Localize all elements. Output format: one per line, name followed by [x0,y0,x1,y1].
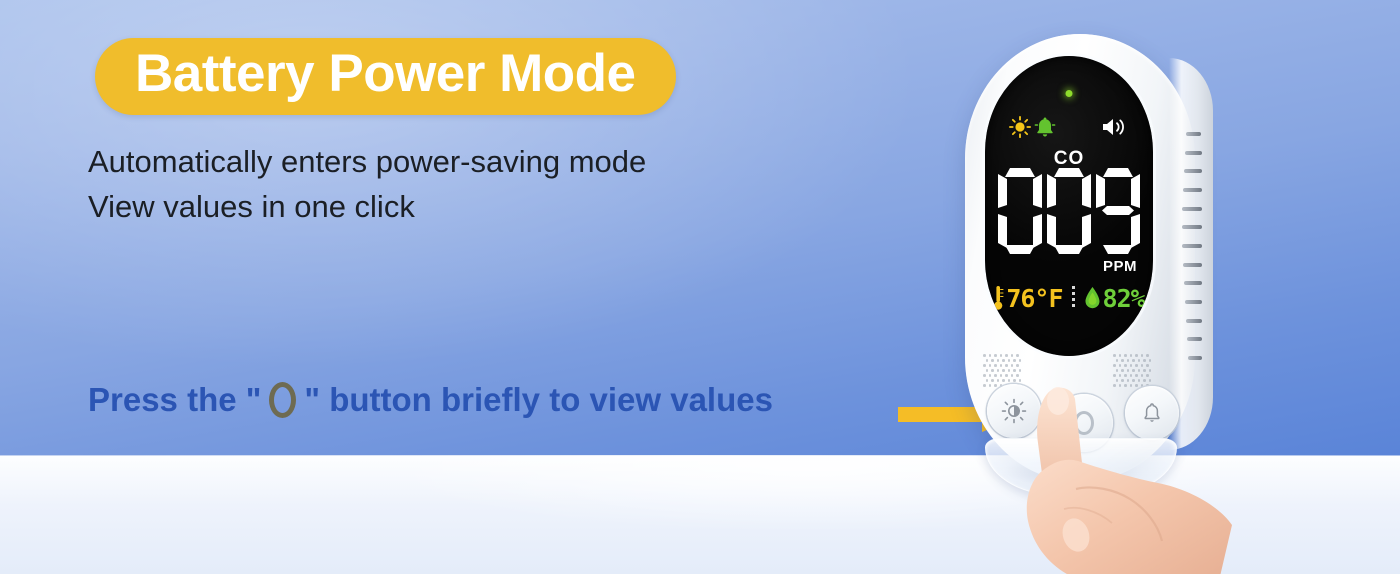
instruction-prefix: Press the " [88,381,261,419]
value-divider [1072,286,1075,310]
subtitle-block: Automatically enters power-saving mode V… [88,140,646,230]
gas-unit-label: PPM [1103,258,1137,275]
gas-value-digits [985,168,1153,254]
humidity-value: 82% [1103,284,1145,313]
page-title: Battery Power Mode [135,47,636,101]
subtitle-line-1: Automatically enters power-saving mode [88,140,646,185]
digit-0 [998,168,1042,254]
water-drop-icon [1084,286,1101,310]
screen-status-icons [985,114,1153,140]
circle-button-glyph-icon [269,382,296,418]
instruction-text: Press the " " button briefly to view val… [88,381,773,419]
temperature-group: 76°F [993,284,1062,313]
digit-1 [1047,168,1091,254]
hand-pressing-button [1018,385,1248,574]
status-led-icon [1066,90,1073,97]
title-badge: Battery Power Mode [95,38,676,115]
digit-2 [1096,168,1140,254]
promo-banner: Battery Power Mode Automatically enters … [0,0,1400,574]
thermometer-icon [993,285,1004,311]
instruction-suffix: " button briefly to view values [304,381,773,419]
device-screen: CO PPM [985,56,1153,356]
device-vents [1181,132,1203,360]
subtitle-line-2: View values in one click [88,185,646,230]
temperature-value: 76°F [1006,284,1062,313]
gas-label: CO [985,148,1153,170]
speaker-icon [1101,116,1127,138]
bell-icon [1033,115,1057,139]
humidity-group: 82% [1084,284,1145,313]
screen-environment-row: 76°F 82% [985,280,1153,316]
sun-icon [1009,116,1031,138]
